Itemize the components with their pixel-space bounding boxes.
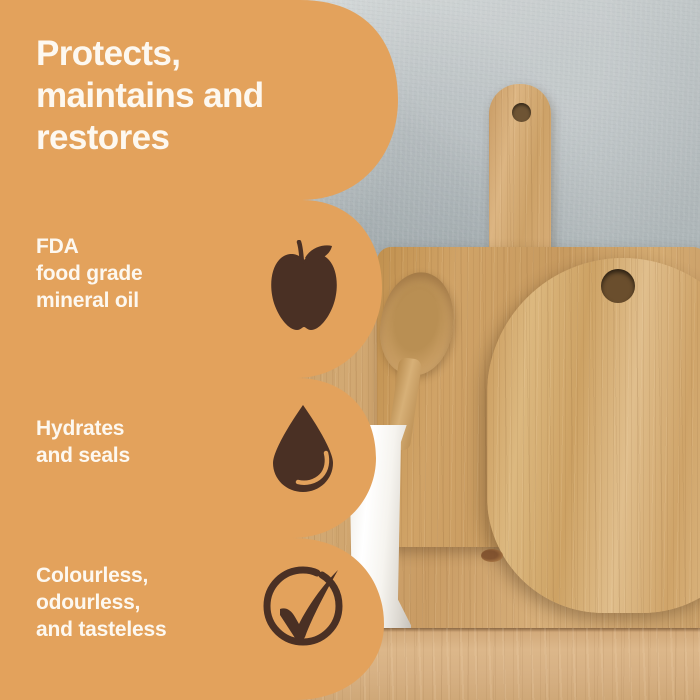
apple-icon <box>266 240 342 332</box>
droplet-icon <box>267 403 339 493</box>
feature-label-fda: FDA food grade mineral oil <box>36 233 143 314</box>
feature-label-colourless: Colourless, odourless, and tasteless <box>36 562 166 643</box>
promo-graphic: Protects, maintains and restores FDA foo… <box>0 0 700 700</box>
page-title: Protects, maintains and restores <box>36 33 336 159</box>
feature-label-hydrates: Hydrates and seals <box>36 415 130 469</box>
checkmark-circle-icon <box>258 562 350 654</box>
panel-content: Protects, maintains and restores FDA foo… <box>0 0 700 700</box>
